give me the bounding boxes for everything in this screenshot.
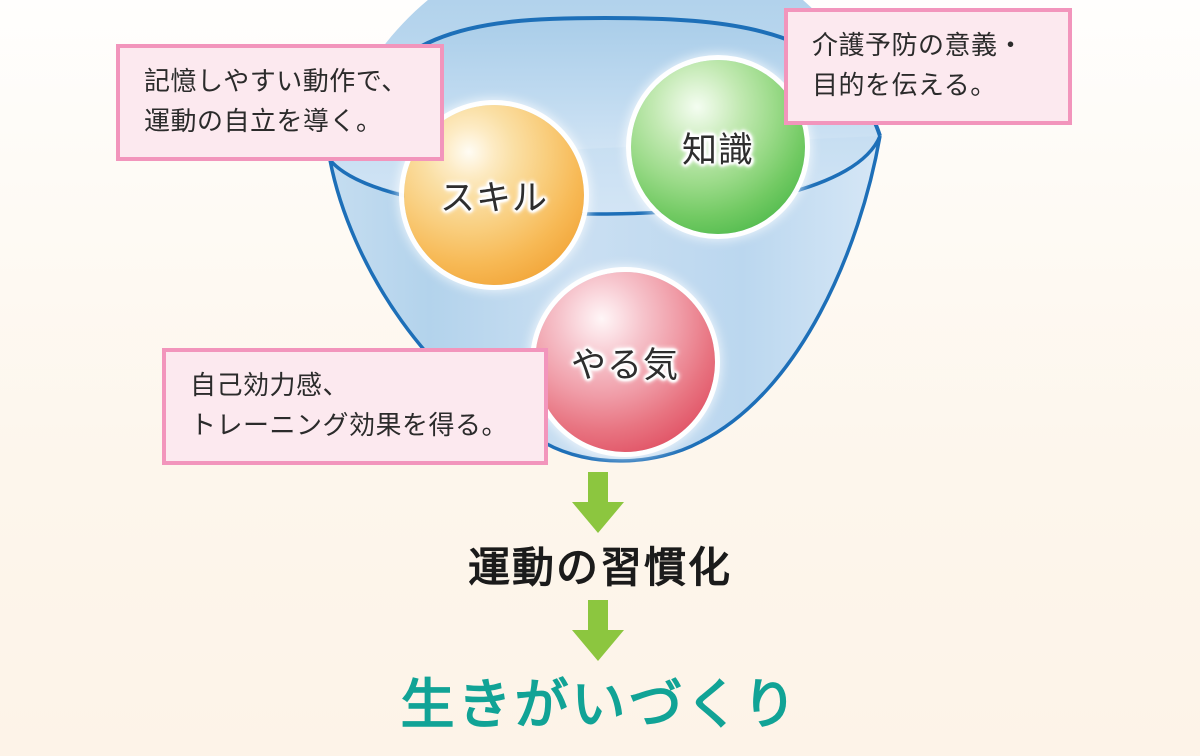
sphere-chishiki-label: 知識 — [682, 122, 754, 173]
sphere-skill-label: スキル — [440, 170, 548, 221]
callout-yaruki: 自己効力感、 トレーニング効果を得る。 — [162, 348, 548, 465]
callout-chishiki: 介護予防の意義・ 目的を伝える。 — [784, 8, 1072, 125]
sphere-yaruki: やる気 — [535, 272, 715, 452]
outcome-habit-text: 運動の習慣化 — [0, 534, 1200, 595]
callout-yaruki-line2: トレーニング効果を得る。 — [190, 406, 524, 446]
outcome-goal-text: 生きがいづくり — [0, 660, 1200, 739]
down-arrow-icon-bottom — [571, 600, 625, 662]
diagram-canvas: スキル 知識 やる気 記憶しやすい動作で、 運動の自立を導く。 介護予防の意義・… — [0, 0, 1200, 756]
sphere-chishiki: 知識 — [631, 60, 805, 234]
callout-skill-line1: 記憶しやすい動作で、 — [144, 62, 420, 102]
callout-chishiki-line2: 目的を伝える。 — [812, 66, 1048, 106]
arrow-shape — [572, 600, 624, 661]
down-arrow-icon-top — [571, 472, 625, 534]
callout-skill-line2: 運動の自立を導く。 — [144, 102, 420, 142]
callout-yaruki-line1: 自己効力感、 — [190, 366, 524, 406]
sphere-yaruki-label: やる気 — [571, 337, 679, 388]
callout-chishiki-line1: 介護予防の意義・ — [812, 26, 1048, 66]
arrow-shape — [572, 472, 624, 533]
callout-skill: 記憶しやすい動作で、 運動の自立を導く。 — [116, 44, 444, 161]
